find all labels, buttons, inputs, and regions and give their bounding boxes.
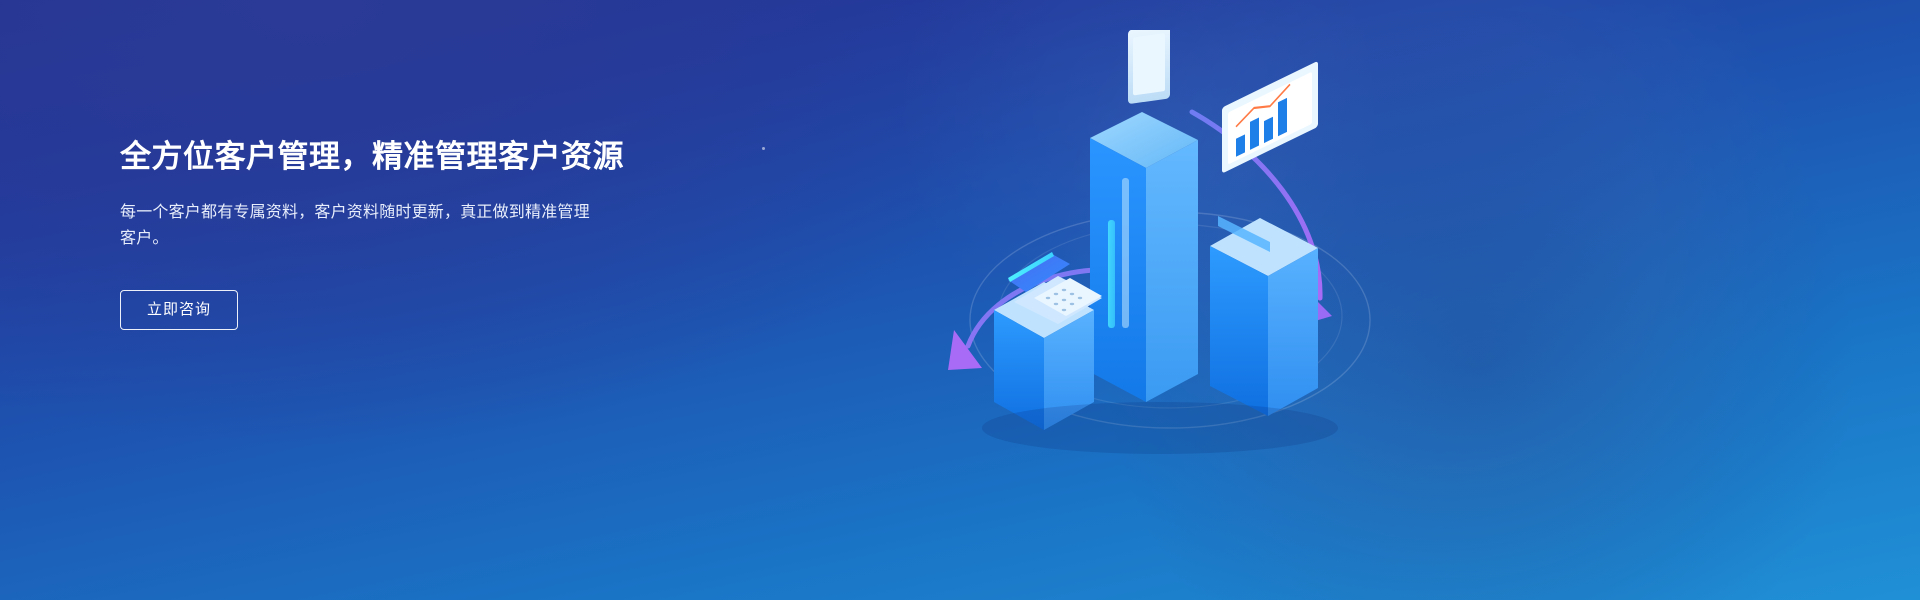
hero-subtitle: 每一个客户都有专属资料，客户资料随时更新，真正做到精准管理客户。 xyxy=(120,200,600,252)
ground-shadow xyxy=(982,402,1338,454)
consult-now-button[interactable]: 立即咨询 xyxy=(120,290,238,330)
hero-copy: 全方位客户管理，精准管理客户资源 每一个客户都有专属资料，客户资料随时更新，真正… xyxy=(120,138,740,330)
chart-screen xyxy=(1218,61,1326,252)
pedestal-center xyxy=(1090,112,1198,402)
sparkle-dot xyxy=(762,147,765,150)
page-title: 全方位客户管理，精准管理客户资源 xyxy=(120,138,740,176)
tablet xyxy=(1128,30,1182,104)
hero-banner: 全方位客户管理，精准管理客户资源 每一个客户都有专属资料，客户资料随时更新，真正… xyxy=(0,0,1920,600)
hero-illustration xyxy=(930,30,1400,460)
